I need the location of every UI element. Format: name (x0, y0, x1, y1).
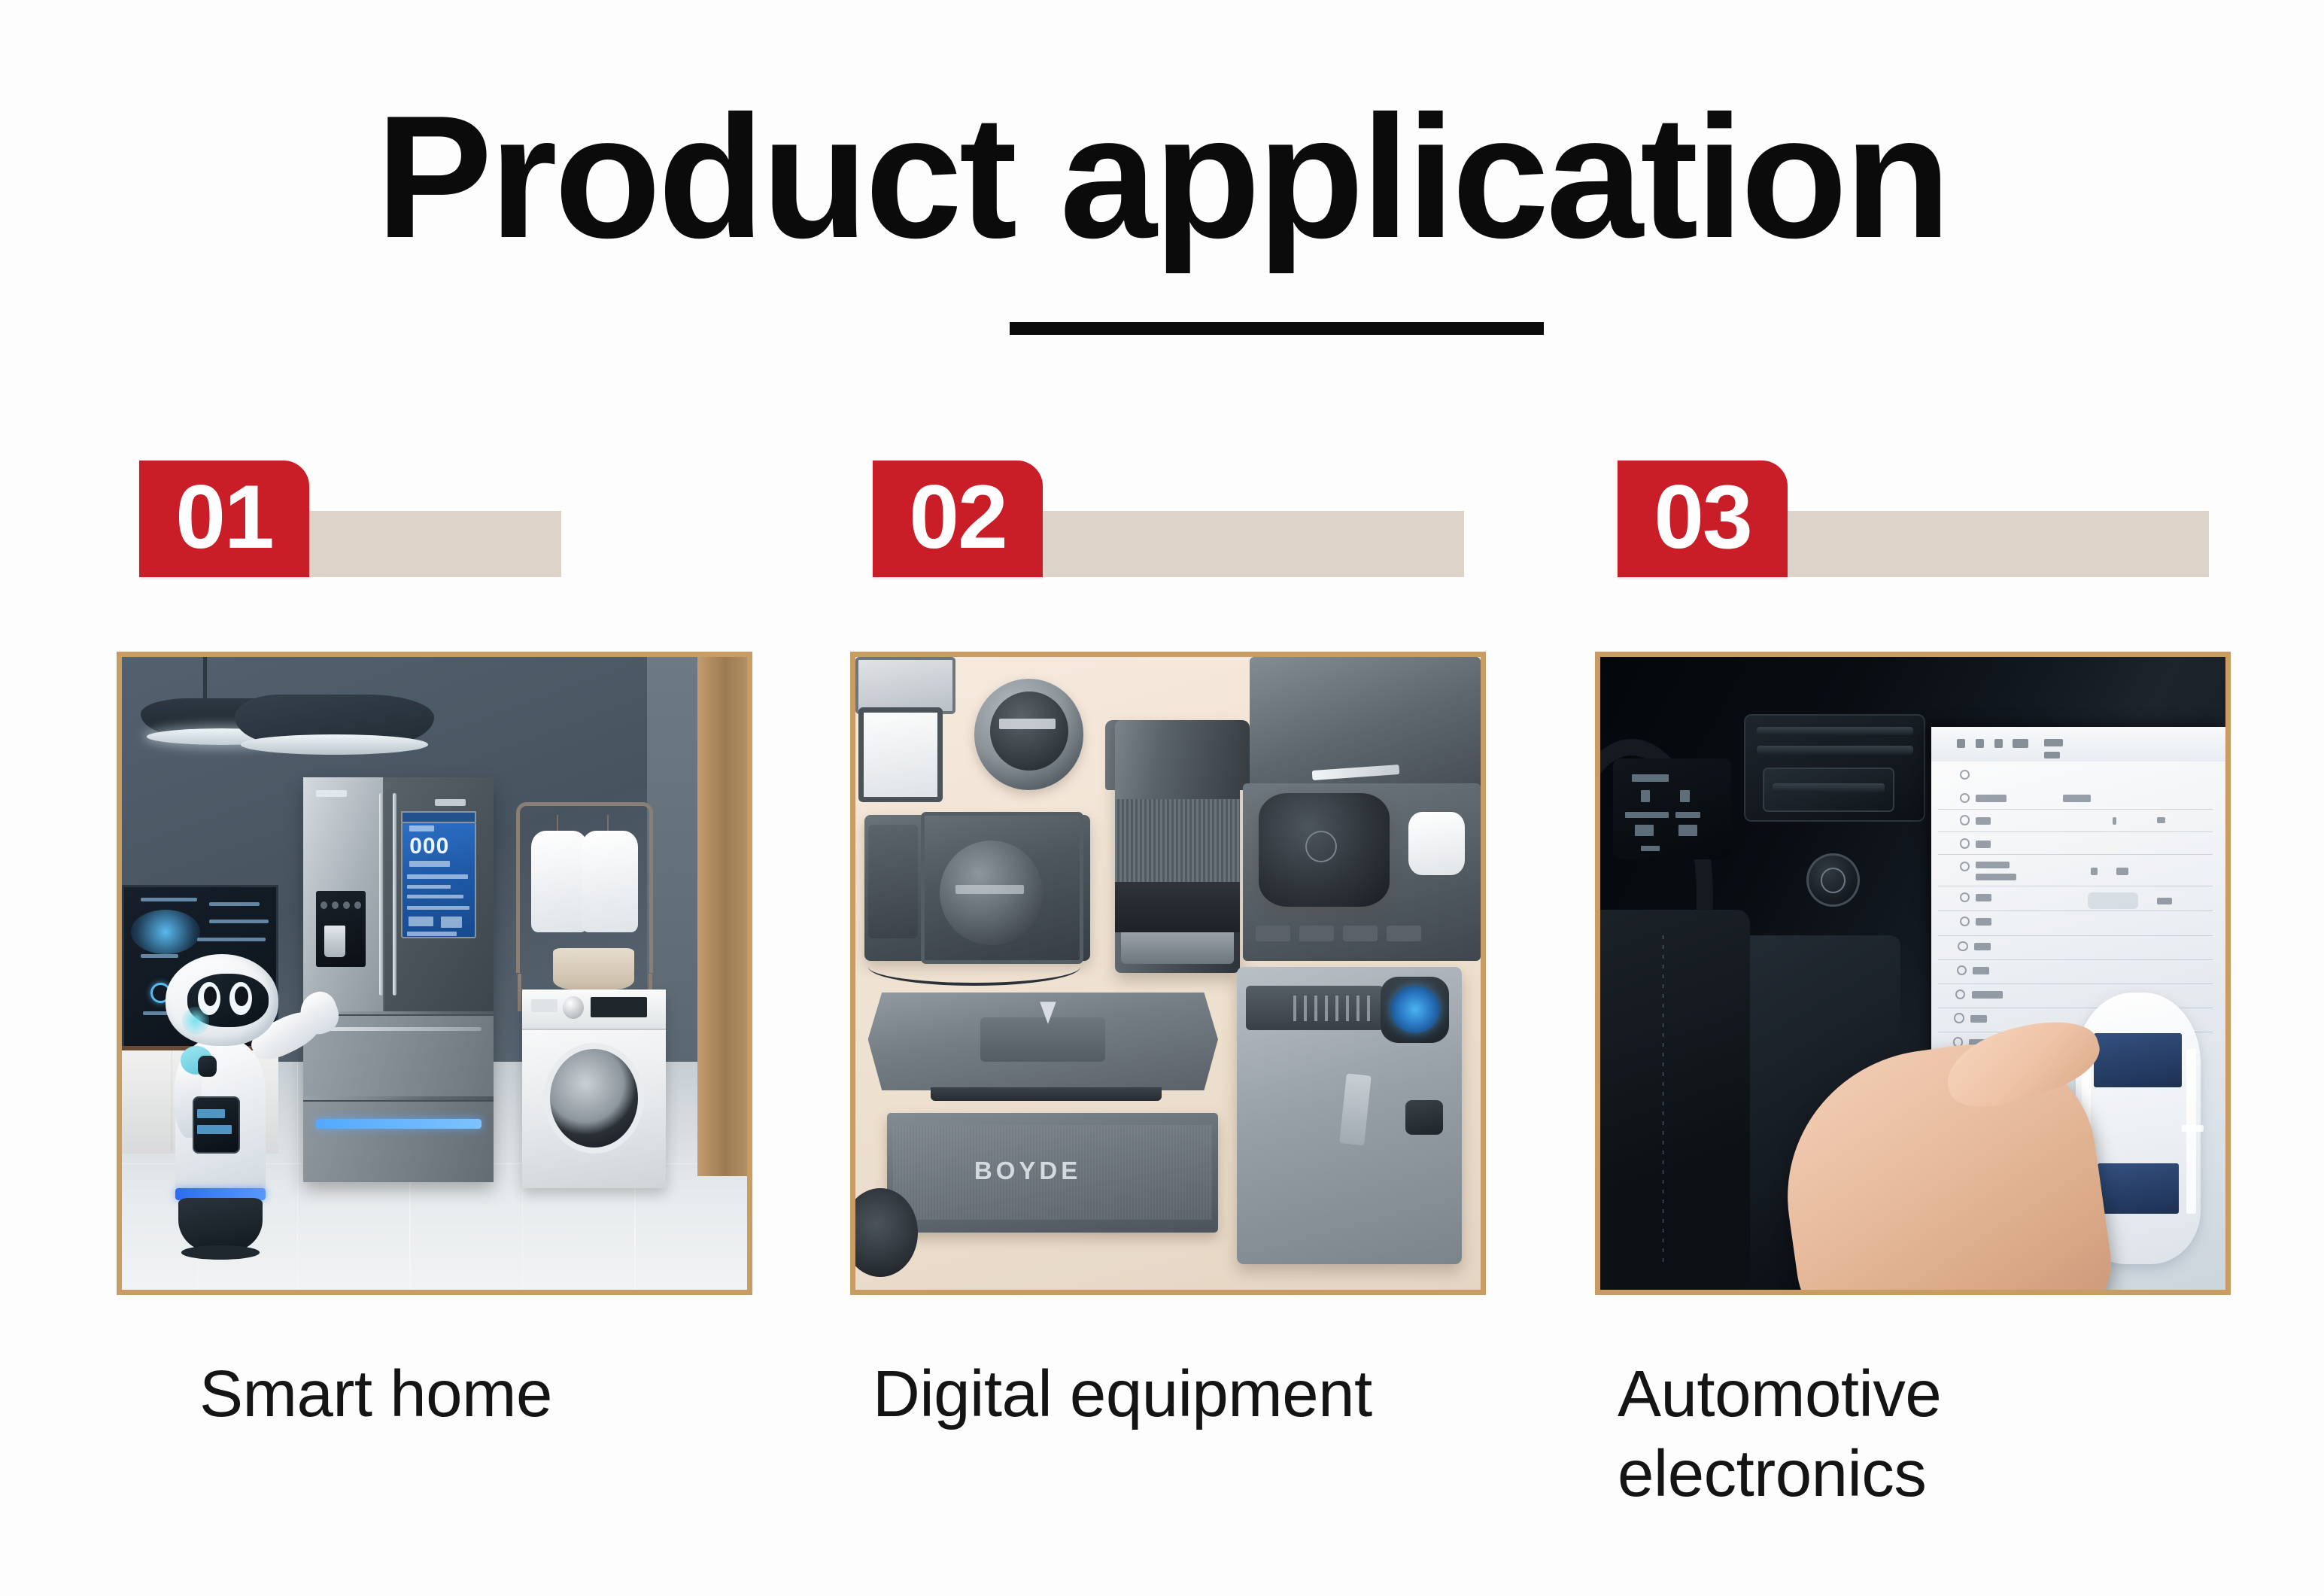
card-smart-home: 01 (117, 0, 794, 1596)
cabinet-seam (172, 1049, 172, 1151)
menu-row-icon[interactable] (1958, 941, 1967, 951)
menu-row-value[interactable] (2091, 868, 2097, 875)
tablet-accessory-knob (1405, 1100, 1443, 1135)
menu-row-icon[interactable] (1957, 965, 1967, 975)
photo-automotive-electronics (1600, 657, 2225, 1290)
lens-cap-branding (999, 719, 1056, 728)
tv-ui-line (197, 938, 266, 941)
tv-glow-orb (131, 910, 199, 954)
cluster-value (1635, 825, 1654, 836)
menu-row-label[interactable] (1974, 943, 1991, 950)
status-bar-subtext (2044, 752, 2060, 758)
speaker-stand (931, 1087, 1162, 1102)
fridge-screen-text (409, 825, 434, 831)
tv-ui-line (209, 920, 269, 923)
fridge-screen-tile (409, 917, 433, 926)
accessory-plate (855, 657, 955, 714)
washer-program-dial (563, 996, 584, 1019)
pendant-lamp-rod (203, 657, 207, 701)
menu-row-icon[interactable] (1954, 1013, 1964, 1023)
badge-row-01: 01 (139, 461, 786, 577)
menu-divider (1938, 935, 2213, 936)
fridge-led-strip (316, 1119, 482, 1129)
dispenser-nozzle (324, 926, 345, 957)
menu-row-icon[interactable] (1960, 815, 1970, 825)
status-bar-icon (2013, 739, 2028, 748)
control-knob-inner (1821, 868, 1846, 893)
menu-row-sublabel[interactable] (1976, 874, 2016, 880)
fridge-screen-text (409, 861, 450, 867)
robot-chest-sensor (198, 1056, 217, 1078)
fridge-drawer-lower (303, 1100, 494, 1182)
menu-row-label[interactable] (1976, 894, 1992, 901)
camera-lens-branding (955, 885, 1024, 895)
laptop-lid (1250, 657, 1481, 802)
tv-ui-line (141, 898, 197, 901)
tv-ui-line (209, 902, 259, 906)
fridge-door-handle (393, 793, 396, 996)
lens-mount (1121, 932, 1234, 964)
badge-bar-03 (1788, 511, 2209, 577)
fridge-screen-text (407, 885, 451, 889)
status-bar-icon (1994, 739, 2004, 748)
card-caption-smart-home: Smart home (199, 1354, 846, 1434)
lens-focus-ring (1115, 799, 1240, 881)
photo-smart-home: 000 (122, 657, 747, 1290)
camera-grip (868, 825, 918, 938)
fridge-screen-text (407, 895, 463, 898)
menu-row-label[interactable] (1976, 817, 1991, 825)
dispenser-button (332, 901, 339, 909)
menu-row-icon[interactable] (1960, 862, 1970, 871)
badge-bar-01 (309, 511, 561, 577)
cluster-text (1625, 812, 1669, 818)
washer-display (591, 997, 647, 1017)
vehicle-rear-window (2098, 1163, 2179, 1214)
badge-bar-02 (1043, 511, 1464, 577)
speaker-brand-label: BOYDE (974, 1157, 1081, 1185)
laptop-key (1256, 926, 1290, 941)
fridge-drawer-handle (316, 1027, 482, 1031)
rack-leg (518, 974, 521, 1011)
hanging-shirt (531, 831, 588, 932)
badge-row-03: 03 (1618, 461, 2265, 577)
instrument-cluster (1613, 758, 1732, 860)
fridge-screen-text (407, 906, 469, 910)
robot-foot-pad (181, 1245, 260, 1260)
menu-row-value[interactable] (2113, 817, 2116, 825)
menu-row-value[interactable] (2157, 898, 2173, 904)
smartwatch-band-holes (1293, 996, 1375, 1021)
status-bar-icon (1976, 739, 1985, 748)
camera-cable (868, 948, 1081, 986)
dispenser-button (354, 901, 361, 909)
hanging-shirt (582, 831, 638, 932)
fridge-screen-tile (441, 917, 462, 928)
menu-row-label[interactable] (1976, 862, 2010, 868)
vehicle-windshield (2094, 1033, 2181, 1087)
menu-row-icon[interactable] (1960, 838, 1970, 848)
vehicle-side-mirror-line (2186, 1049, 2195, 1214)
photo-frame-digital-equipment: BOYDE (850, 652, 1486, 1295)
cluster-text (1632, 774, 1669, 782)
fridge-brand-logo (316, 790, 348, 797)
badge-number-02: 02 (873, 461, 1043, 577)
menu-row-value[interactable] (2063, 795, 2091, 802)
status-bar-icon (1957, 739, 1966, 748)
slide-root: Product application 01 (0, 0, 2324, 1596)
fridge-screen-topbar (401, 811, 476, 822)
badge-number-03: 03 (1618, 461, 1788, 577)
camera-field-monitor (858, 707, 943, 802)
fridge-screen-text (407, 874, 468, 879)
menu-divider (1938, 809, 2213, 810)
robot-cheek-glow (182, 1007, 210, 1035)
photo-frame-smart-home: 000 (117, 652, 752, 1295)
laptop-key (1343, 926, 1378, 941)
laundry-basket (553, 948, 634, 990)
badge-row-02: 02 (873, 461, 1520, 577)
menu-row-icon[interactable] (1960, 770, 1970, 780)
menu-row-label[interactable] (1976, 918, 1992, 926)
cluster-value (1680, 790, 1689, 803)
cluster-text (1675, 812, 1700, 818)
photo-frame-automotive-electronics (1595, 652, 2231, 1295)
dispenser-button (343, 901, 350, 909)
card-caption-digital-equipment: Digital equipment (873, 1354, 1520, 1434)
laptop-key (1299, 926, 1334, 941)
cluster-value (1641, 790, 1650, 803)
menu-row-pill[interactable] (2088, 892, 2137, 909)
washer-detergent-drawer (531, 999, 557, 1012)
menu-divider (1938, 910, 2213, 911)
fridge-screen-text (407, 932, 457, 936)
menu-divider (1938, 831, 2213, 832)
fridge-door-handle (379, 793, 383, 996)
cluster-text (1641, 846, 1660, 852)
washer-door (544, 1043, 644, 1154)
badge-number-01: 01 (139, 461, 309, 577)
seat-stitching (1663, 935, 1663, 1264)
speaker-grill-panel (980, 1017, 1105, 1062)
status-bar-clock (2044, 739, 2063, 746)
fridge-brand-logo (435, 799, 466, 806)
tv-ui-line (141, 954, 178, 958)
robot-screen-text (197, 1109, 225, 1118)
lens-cap-inner (990, 692, 1068, 771)
card-caption-automotive-electronics: Automotive electronics (1618, 1354, 2265, 1514)
driver-seat (1600, 910, 1750, 1290)
vent-slat (1773, 783, 1885, 792)
menu-row-chevron[interactable] (2157, 817, 2166, 823)
lens-barrel (1115, 882, 1240, 932)
menu-row-label[interactable] (1976, 795, 2007, 802)
menu-row-label[interactable] (1970, 1015, 1987, 1023)
smartwatch-face (1390, 986, 1440, 1033)
menu-row-label[interactable] (1976, 841, 1991, 848)
cluster-value (1678, 825, 1697, 836)
window-curtain (697, 657, 747, 1176)
menu-divider (1938, 854, 2213, 855)
vent-slat (1757, 746, 1913, 755)
floor-tile-line (297, 1062, 299, 1290)
earbuds-case-logo (1305, 831, 1337, 862)
menu-row-value[interactable] (2116, 868, 2129, 875)
fridge-screen-value: 000 (409, 834, 449, 859)
vent-slat (1757, 727, 1913, 736)
card-digital-equipment: 02 (850, 0, 1527, 1596)
laptop-key (1387, 926, 1421, 941)
card-automotive-electronics: 03 (1595, 0, 2272, 1596)
menu-divider (1938, 886, 2213, 886)
photo-digital-equipment: BOYDE (855, 657, 1481, 1290)
menu-row-label[interactable] (1973, 967, 1989, 974)
menu-row-label[interactable] (1972, 991, 2004, 999)
menu-divider (1938, 959, 2213, 960)
robot-base (178, 1198, 263, 1251)
robot-pupil-right (235, 986, 248, 1006)
menu-divider (1938, 983, 2213, 984)
robot-screen-text (197, 1125, 232, 1134)
wireless-earbud (1408, 812, 1465, 875)
vehicle-marker-line (2182, 1125, 2204, 1131)
